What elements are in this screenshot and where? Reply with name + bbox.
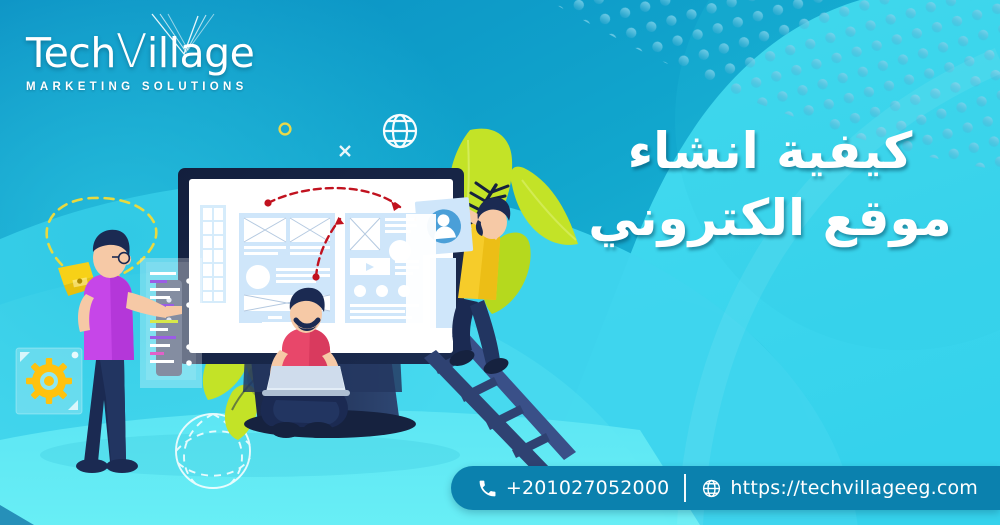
headline: كيفية انشاء موقع الكتروني [570,118,970,252]
logo-text-tech: Tech [26,29,116,77]
website-url: https://techvillageeg.com [730,477,978,499]
logo-tagline: MARKETING SOLUTIONS [26,81,256,93]
checkmark-swoosh-icon [148,12,238,58]
globe-icon [701,478,722,499]
ladder [424,329,576,478]
website-contact[interactable]: https://techvillageeg.com [701,477,978,499]
phone-number: +201027052000 [506,477,670,499]
phone-icon [477,478,498,499]
headline-line-1: كيفية انشاء [570,118,970,185]
logo-text-v: V [116,24,147,78]
contact-divider [684,474,686,502]
brand-logo: TechVillage MARKETING SOLUTIONS [26,28,256,93]
banner-root: TechVillage MARKETING SOLUTIONS كيفية ان… [0,0,1000,525]
headline-line-2: موقع الكتروني [570,185,970,252]
phone-contact[interactable]: +201027052000 [477,477,670,499]
contact-bar: +201027052000 https://techvillageeg.com [451,466,1000,510]
